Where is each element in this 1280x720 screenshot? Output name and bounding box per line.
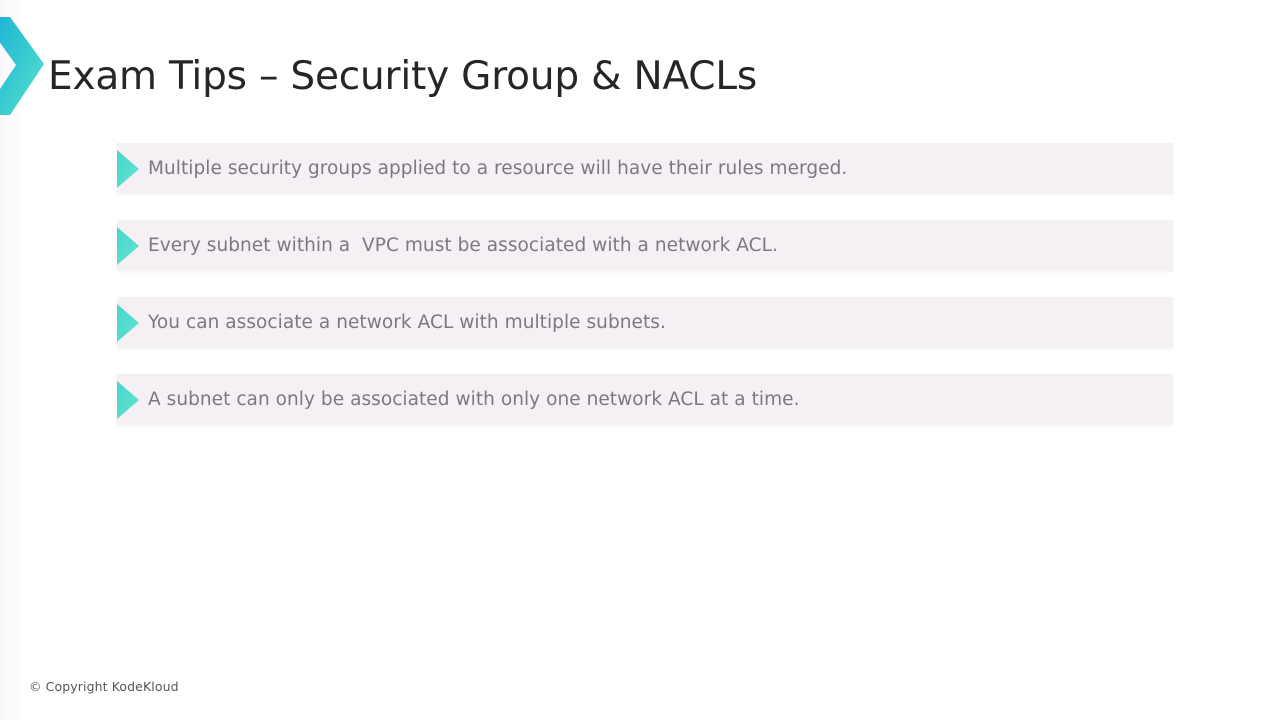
list-item: A subnet can only be associated with onl… xyxy=(117,374,1173,425)
list-item: You can associate a network ACL with mul… xyxy=(117,297,1173,348)
slide-canvas: Exam Tips – Security Group & NACLs Multi… xyxy=(0,0,1280,720)
list-item: Multiple security groups applied to a re… xyxy=(117,143,1173,194)
page-title: Exam Tips – Security Group & NACLs xyxy=(48,46,1148,108)
list-item-label: Multiple security groups applied to a re… xyxy=(148,157,847,180)
triangle-right-icon xyxy=(117,304,139,342)
triangle-right-icon xyxy=(117,150,139,188)
triangle-right-icon xyxy=(117,227,139,265)
list-item-label: Every subnet within a VPC must be associ… xyxy=(148,234,778,257)
slide-title-text: Exam Tips – Security Group & NACLs xyxy=(48,56,757,98)
triangle-right-icon xyxy=(117,381,139,419)
list-item-label: You can associate a network ACL with mul… xyxy=(148,311,666,334)
chevron-right-bracket-icon xyxy=(0,14,44,118)
bullet-list: Multiple security groups applied to a re… xyxy=(117,143,1173,425)
copyright-footer: © Copyright KodeKloud xyxy=(29,679,179,695)
list-item-label: A subnet can only be associated with onl… xyxy=(148,388,800,411)
list-item: Every subnet within a VPC must be associ… xyxy=(117,220,1173,271)
